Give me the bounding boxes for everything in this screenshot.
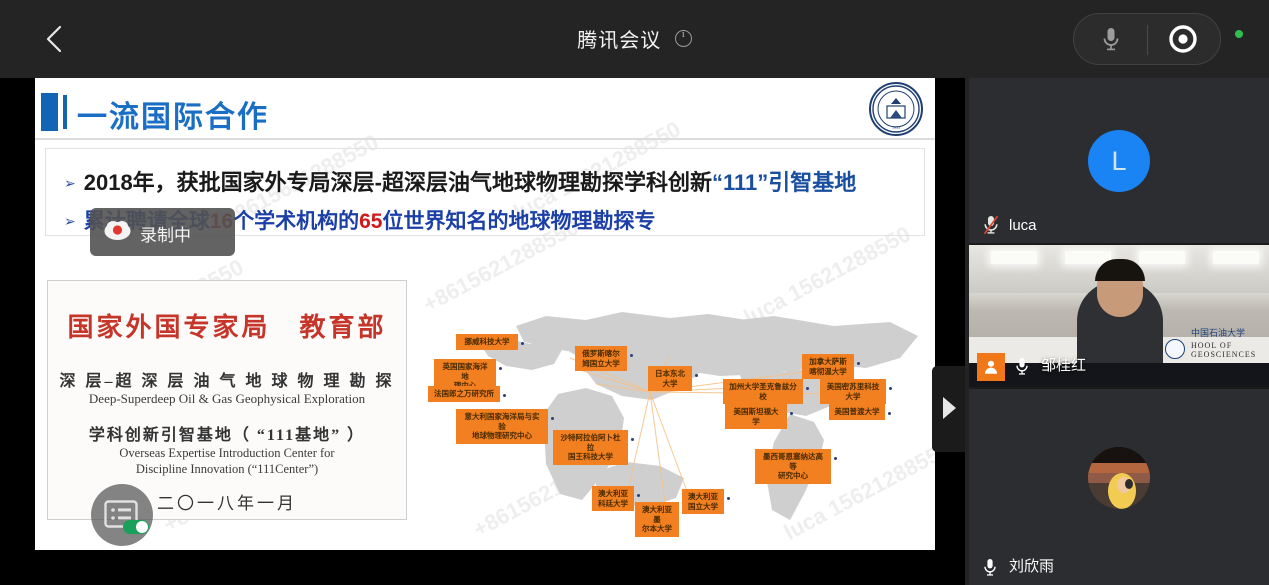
chevron-left-icon bbox=[38, 22, 72, 56]
bullet-1-accent: “111”引智基地 bbox=[712, 170, 856, 195]
certificate-line-4: 学科创新引智基地（ “111基地” ） bbox=[48, 421, 406, 445]
title-accent-bar bbox=[41, 93, 58, 131]
certificate-line-1: 国家外国专家局 教育部 bbox=[48, 307, 406, 344]
status-dot bbox=[1235, 30, 1243, 38]
mic-toggle-button[interactable] bbox=[1074, 14, 1148, 64]
map-location-dot bbox=[521, 342, 524, 345]
map-location-dot bbox=[857, 362, 860, 365]
host-badge bbox=[977, 353, 1005, 381]
bullet-2-seg-4: 65 bbox=[359, 210, 382, 233]
microphone-icon bbox=[1101, 25, 1121, 53]
map-location-dot bbox=[834, 457, 837, 460]
china-university-of-petroleum-logo: 1953 bbox=[869, 82, 923, 136]
tencent-meeting-window: 腾讯会议 +8615621 bbox=[0, 0, 1269, 585]
map-location-dot bbox=[630, 354, 633, 357]
expand-panel-button[interactable] bbox=[932, 366, 965, 452]
certificate-line-5: Overseas Expertise Introduction Center f… bbox=[48, 445, 406, 477]
camera-toggle-button[interactable] bbox=[1146, 14, 1220, 64]
participant-name: 刘欣雨 bbox=[1009, 555, 1054, 576]
window-top-bar: 腾讯会议 bbox=[0, 0, 1269, 78]
slide-header: 一流国际合作 1953 bbox=[35, 78, 935, 140]
audio-video-control-pill[interactable] bbox=[1073, 13, 1221, 65]
bullet-2-seg-5: 位世界知名的地球物理勘探专 bbox=[382, 210, 655, 233]
map-label: 俄罗斯喀尔 姆国立大学 bbox=[575, 346, 627, 371]
title-accent-bar-thin bbox=[63, 95, 67, 129]
map-location-dot bbox=[503, 394, 506, 397]
bullet-marker: ➢ bbox=[64, 175, 76, 191]
bullet-2-seg-3: 个学术机构的 bbox=[233, 210, 359, 233]
host-person-icon bbox=[983, 359, 1000, 376]
map-label: 澳大利亚 科廷大学 bbox=[592, 486, 634, 511]
map-label: 沙特阿拉伯阿卜杜拉 国王科技大学 bbox=[553, 430, 628, 465]
recording-label: 录制中 bbox=[140, 221, 191, 246]
participant-video: 中国石油大学 HOOL OF GEOSCIENCES bbox=[969, 245, 1269, 387]
bullet-marker: ➢ bbox=[64, 213, 76, 229]
school-name-en: HOOL OF GEOSCIENCES bbox=[1191, 341, 1269, 359]
recording-cloud-icon bbox=[104, 219, 131, 241]
microphone-icon bbox=[983, 558, 997, 577]
map-label: 美国密苏里科技 大学 bbox=[820, 379, 886, 404]
captions-toggle-switch[interactable] bbox=[123, 520, 149, 534]
captions-toggle-button[interactable] bbox=[91, 484, 153, 546]
header-divider bbox=[35, 138, 935, 140]
presentation-slide: +8615621288550 luca 15621288550 +8615621… bbox=[35, 78, 935, 550]
map-location-dot bbox=[551, 417, 554, 420]
avatar bbox=[1088, 447, 1150, 509]
map-location-dot bbox=[637, 494, 640, 497]
expand-panel-arrow-icon bbox=[943, 397, 956, 419]
map-location-dot bbox=[889, 387, 892, 390]
map-label: 美国普渡大学 bbox=[829, 404, 885, 420]
info-circle-icon[interactable] bbox=[675, 30, 692, 47]
certificate-line-3: Deep-Superdeep Oil & Gas Geophysical Exp… bbox=[48, 391, 406, 407]
certificate-image: 国家外国专家局 教育部 深 层–超 深 层 油 气 地 球 物 理 勘 探 De… bbox=[47, 280, 407, 520]
svg-text:1953: 1953 bbox=[892, 125, 900, 130]
certificate-line-2: 深 层–超 深 层 油 气 地 球 物 理 勘 探 bbox=[48, 367, 406, 391]
recording-badge: 录制中 bbox=[90, 208, 235, 256]
camera-record-icon bbox=[1168, 24, 1198, 54]
map-label: 日本东北 大学 bbox=[648, 366, 692, 391]
map-label: 挪威科技大学 bbox=[456, 334, 518, 350]
participant-name: 邹桂红 bbox=[1041, 354, 1086, 375]
participant-rail: L luca 中国石油大学 HOOL OF GEOSCIENCES bbox=[969, 78, 1269, 585]
school-name-cn: 中国石油大学 bbox=[1191, 326, 1245, 339]
map-location-dot bbox=[888, 412, 891, 415]
back-button[interactable] bbox=[38, 22, 72, 56]
world-map-graphic: 挪威科技大学英国国家海洋地 理中心法国郎之万研究所意大利国家海洋局与实验 地球物… bbox=[420, 274, 930, 544]
map-label: 加拿大萨斯 喀彻温大学 bbox=[802, 354, 854, 379]
participant-tile-zouguihong[interactable]: 中国石油大学 HOOL OF GEOSCIENCES 邹 bbox=[969, 245, 1269, 387]
microphone-icon bbox=[1015, 357, 1029, 376]
map-location-dot bbox=[790, 412, 793, 415]
map-location-dot bbox=[695, 374, 698, 377]
participant-tile-liuxinyu[interactable]: 刘欣雨 bbox=[969, 389, 1269, 585]
map-label: 美国斯坦福大学 bbox=[725, 404, 787, 429]
participant-tile-luca[interactable]: L luca bbox=[969, 78, 1269, 243]
school-logo bbox=[1165, 339, 1185, 359]
video-desk bbox=[969, 363, 1269, 387]
avatar: L bbox=[1088, 130, 1150, 192]
map-label: 加州大学圣克鲁兹分校 bbox=[723, 379, 803, 404]
bullet-1-main: 2018年，获批国家外专局深层-超深层油气地球物理勘探学科创新 bbox=[84, 170, 712, 195]
map-location-dot bbox=[631, 438, 634, 441]
slide-title: 一流国际合作 bbox=[77, 92, 269, 136]
bullet-line-1: ➢2018年，获批国家外专局深层-超深层油气地球物理勘探学科创新“111”引智基… bbox=[64, 165, 856, 197]
shared-screen-stage: +8615621288550 luca 15621288550 +8615621… bbox=[0, 78, 965, 585]
map-label: 法国郎之万研究所 bbox=[428, 386, 500, 402]
map-location-dot bbox=[806, 387, 809, 390]
map-label: 澳大利亚 国立大学 bbox=[682, 489, 724, 514]
map-location-dot bbox=[499, 367, 502, 370]
participant-name: luca bbox=[1009, 217, 1037, 234]
map-location-dot bbox=[727, 497, 730, 500]
map-label: 澳大利亚墨 尔本大学 bbox=[635, 502, 679, 537]
meeting-title: 腾讯会议 bbox=[577, 24, 661, 53]
map-label: 墨西哥恩塞纳达高等 研究中心 bbox=[755, 449, 831, 484]
map-label: 意大利国家海洋局与实验 地球物理研究中心 bbox=[456, 409, 548, 444]
microphone-muted-icon bbox=[983, 215, 999, 235]
